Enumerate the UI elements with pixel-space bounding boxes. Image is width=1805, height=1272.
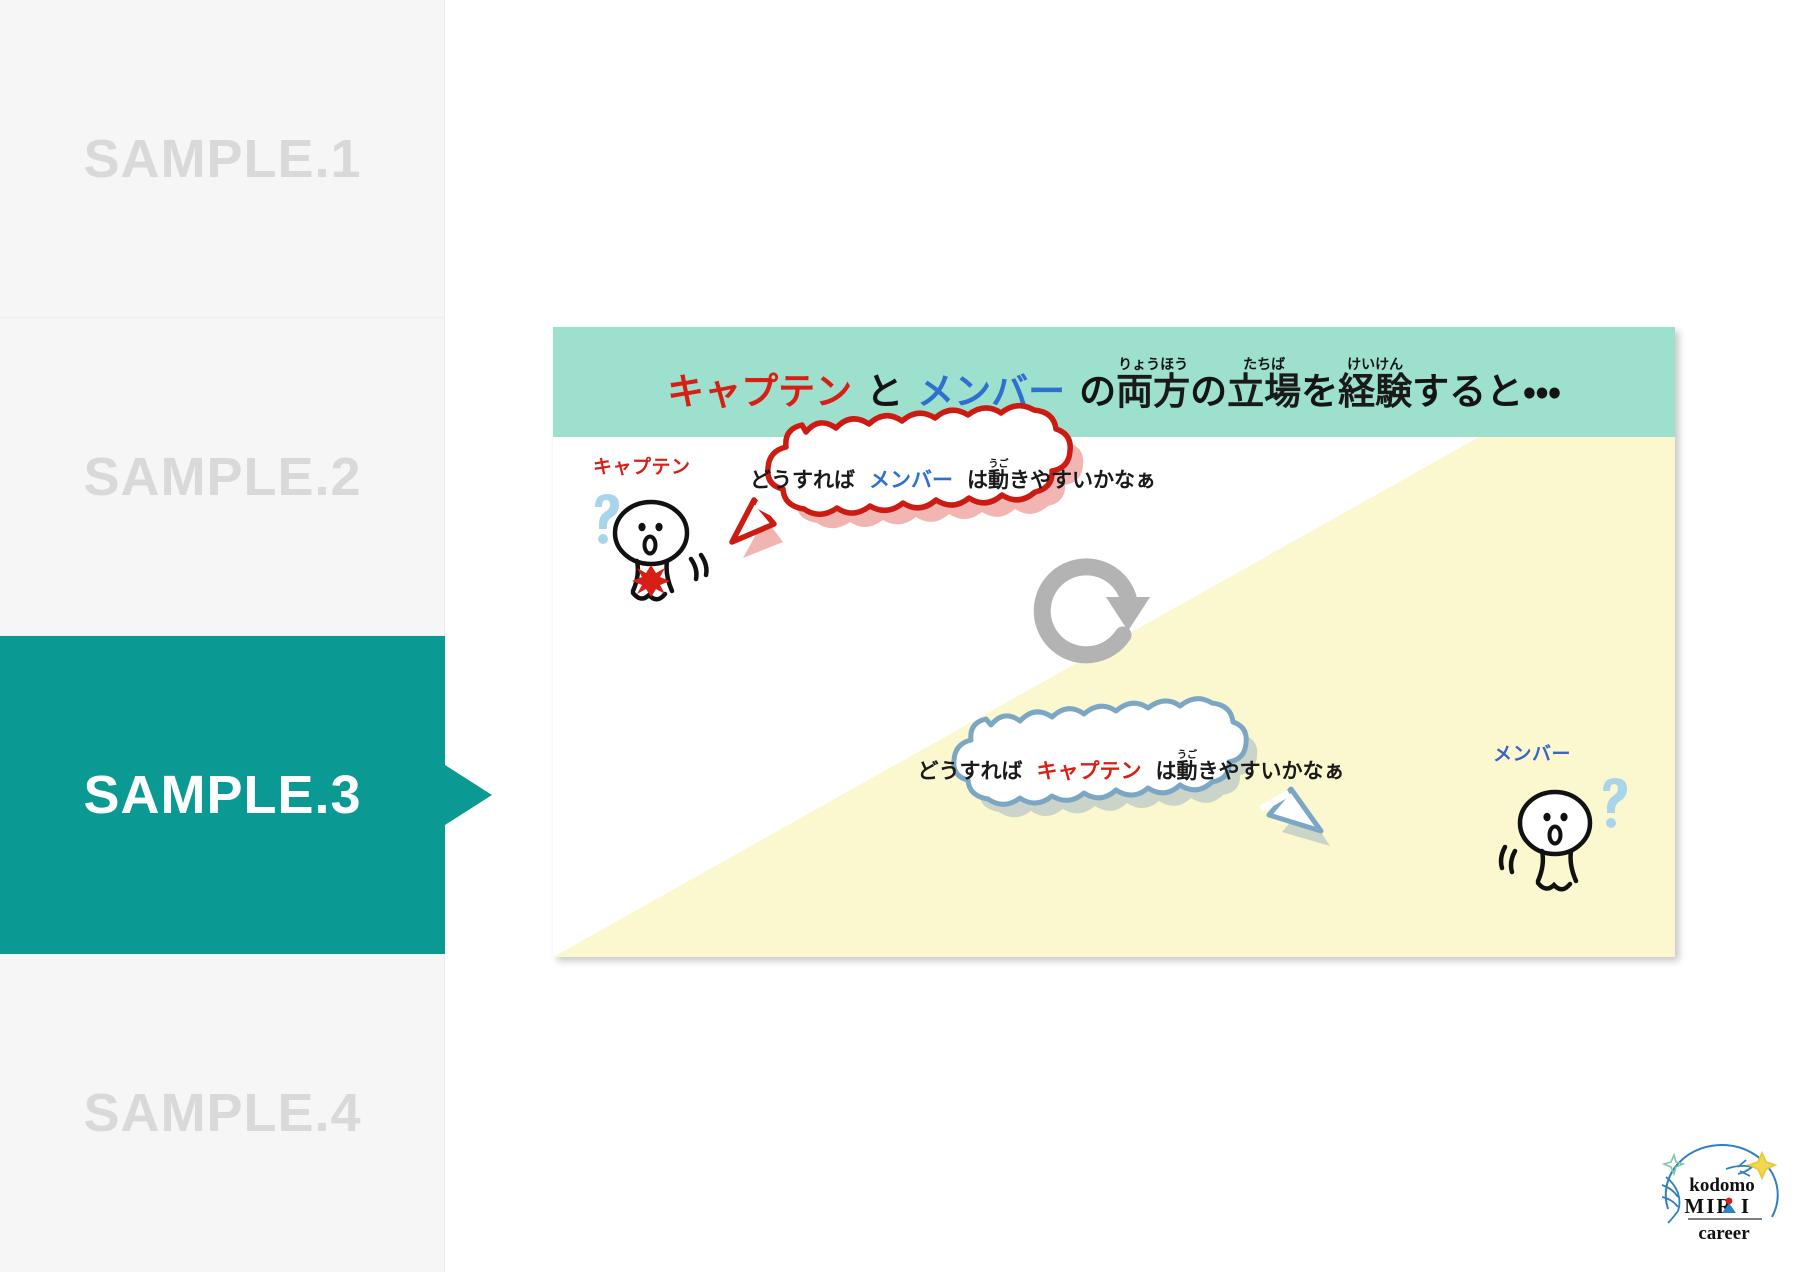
title-tail: すると・・・ (1412, 361, 1561, 415)
sidebar-item-label: SAMPLE.3 (83, 764, 361, 826)
sidebar-nav: SAMPLE.1 SAMPLE.2 SAMPLE.3 SAMPLE.4 (0, 0, 445, 1272)
brand-logo: kodomo MIR I career (1652, 1143, 1792, 1251)
slide-title: キャプテン と メンバー の 両方りょうほう の 立場たちば を 経験けいけん … (667, 356, 1561, 415)
title-captain-word: キャプテン (667, 361, 852, 415)
sidebar-item-sample-4[interactable]: SAMPLE.4 (0, 954, 445, 1272)
question-mark-icon (1603, 778, 1627, 828)
active-pointer-arrow-icon (445, 765, 492, 825)
title-ruby-tachiba: 立場たちば (1227, 356, 1301, 415)
bubble-top-pre: どうすれば (750, 464, 855, 494)
bubble-top-post: きやすいかなぁ (1009, 464, 1156, 494)
title-ruby-base: 両方 (1116, 371, 1190, 412)
bubble-top-subject: メンバー (869, 464, 953, 494)
title-ruby-base: 経験 (1338, 371, 1412, 412)
logo-line1: kodomo (1689, 1175, 1754, 1196)
logo-line3: career (1698, 1223, 1750, 1244)
member-character (1497, 767, 1647, 907)
bubble-top-mid: は (967, 464, 988, 494)
bubble-top-ruby-base: 動 (988, 469, 1009, 492)
title-ruby-base: 立場 (1227, 371, 1301, 412)
sidebar-item-sample-2[interactable]: SAMPLE.2 (0, 318, 445, 636)
sidebar-item-sample-3[interactable]: SAMPLE.3 (0, 636, 445, 954)
member-speech-text: どうすれば キャプテン は 動うご きやすいかなぁ (918, 750, 1345, 785)
bubble-top-ruby: 動うご (988, 459, 1009, 494)
title-ruby-reading: りょうほう (1116, 356, 1190, 372)
sparkle-icon (1664, 1155, 1683, 1174)
sidebar-item-label: SAMPLE.4 (83, 1082, 361, 1144)
bubble-bottom-subject: キャプテン (1037, 755, 1142, 785)
title-ruby-reading: たちば (1227, 356, 1301, 372)
captain-speech-bubble: どうすれば メンバー は 動うご きやすいかなぁ (728, 426, 1178, 526)
bubble-bottom-mid: は (1156, 755, 1177, 785)
title-ruby-reading: けいけん (1338, 356, 1412, 372)
logo-line2: MIR (1684, 1194, 1733, 1218)
bubble-bottom-pre: どうすれば (918, 755, 1023, 785)
sidebar-item-label: SAMPLE.2 (83, 446, 361, 508)
slide-header-band: キャプテン と メンバー の 両方りょうほう の 立場たちば を 経験けいけん … (553, 327, 1675, 437)
title-particle-no: の (1079, 361, 1116, 415)
bubble-bottom-ruby-base: 動 (1177, 760, 1198, 783)
kodomo-mirai-career-logo-icon: kodomo MIR I career (1652, 1143, 1792, 1251)
circular-arrow-shape (1028, 545, 1158, 675)
title-ruby-keiken: 経験けいけん (1338, 356, 1412, 415)
title-conjunction: と (866, 361, 903, 415)
cycle-arrow-icon (1028, 545, 1158, 675)
airplane-icon (1726, 1160, 1752, 1176)
captain-role-label: キャプテン (593, 452, 691, 479)
member-role-label: メンバー (1493, 739, 1571, 766)
sidebar-item-sample-1[interactable]: SAMPLE.1 (0, 0, 445, 318)
logo-line2b: I (1741, 1194, 1749, 1218)
bubble-bottom-ruby: 動うご (1177, 750, 1198, 785)
member-figure-icon (1497, 767, 1647, 907)
captain-speech-text: どうすれば メンバー は 動うご きやすいかなぁ (750, 459, 1156, 494)
slide-canvas: キャプテン と メンバー の 両方りょうほう の 立場たちば を 経験けいけん … (553, 327, 1675, 957)
bubble-bottom-ruby-reading: うご (1177, 750, 1198, 761)
sidebar-item-label: SAMPLE.1 (83, 128, 361, 190)
title-ruby-ryouhou: 両方りょうほう (1116, 356, 1190, 415)
captain-figure-icon (581, 481, 731, 616)
member-speech-bubble: どうすれば キャプテン は 動うご きやすいかなぁ (921, 719, 1341, 815)
title-particle-no-2: の (1190, 361, 1227, 415)
bubble-bottom-post: きやすいかなぁ (1198, 755, 1345, 785)
person-figure-icon (1662, 1177, 1680, 1223)
bubble-top-ruby-reading: うご (988, 459, 1009, 470)
captain-character (581, 481, 731, 616)
title-particle-wo: を (1301, 361, 1338, 415)
